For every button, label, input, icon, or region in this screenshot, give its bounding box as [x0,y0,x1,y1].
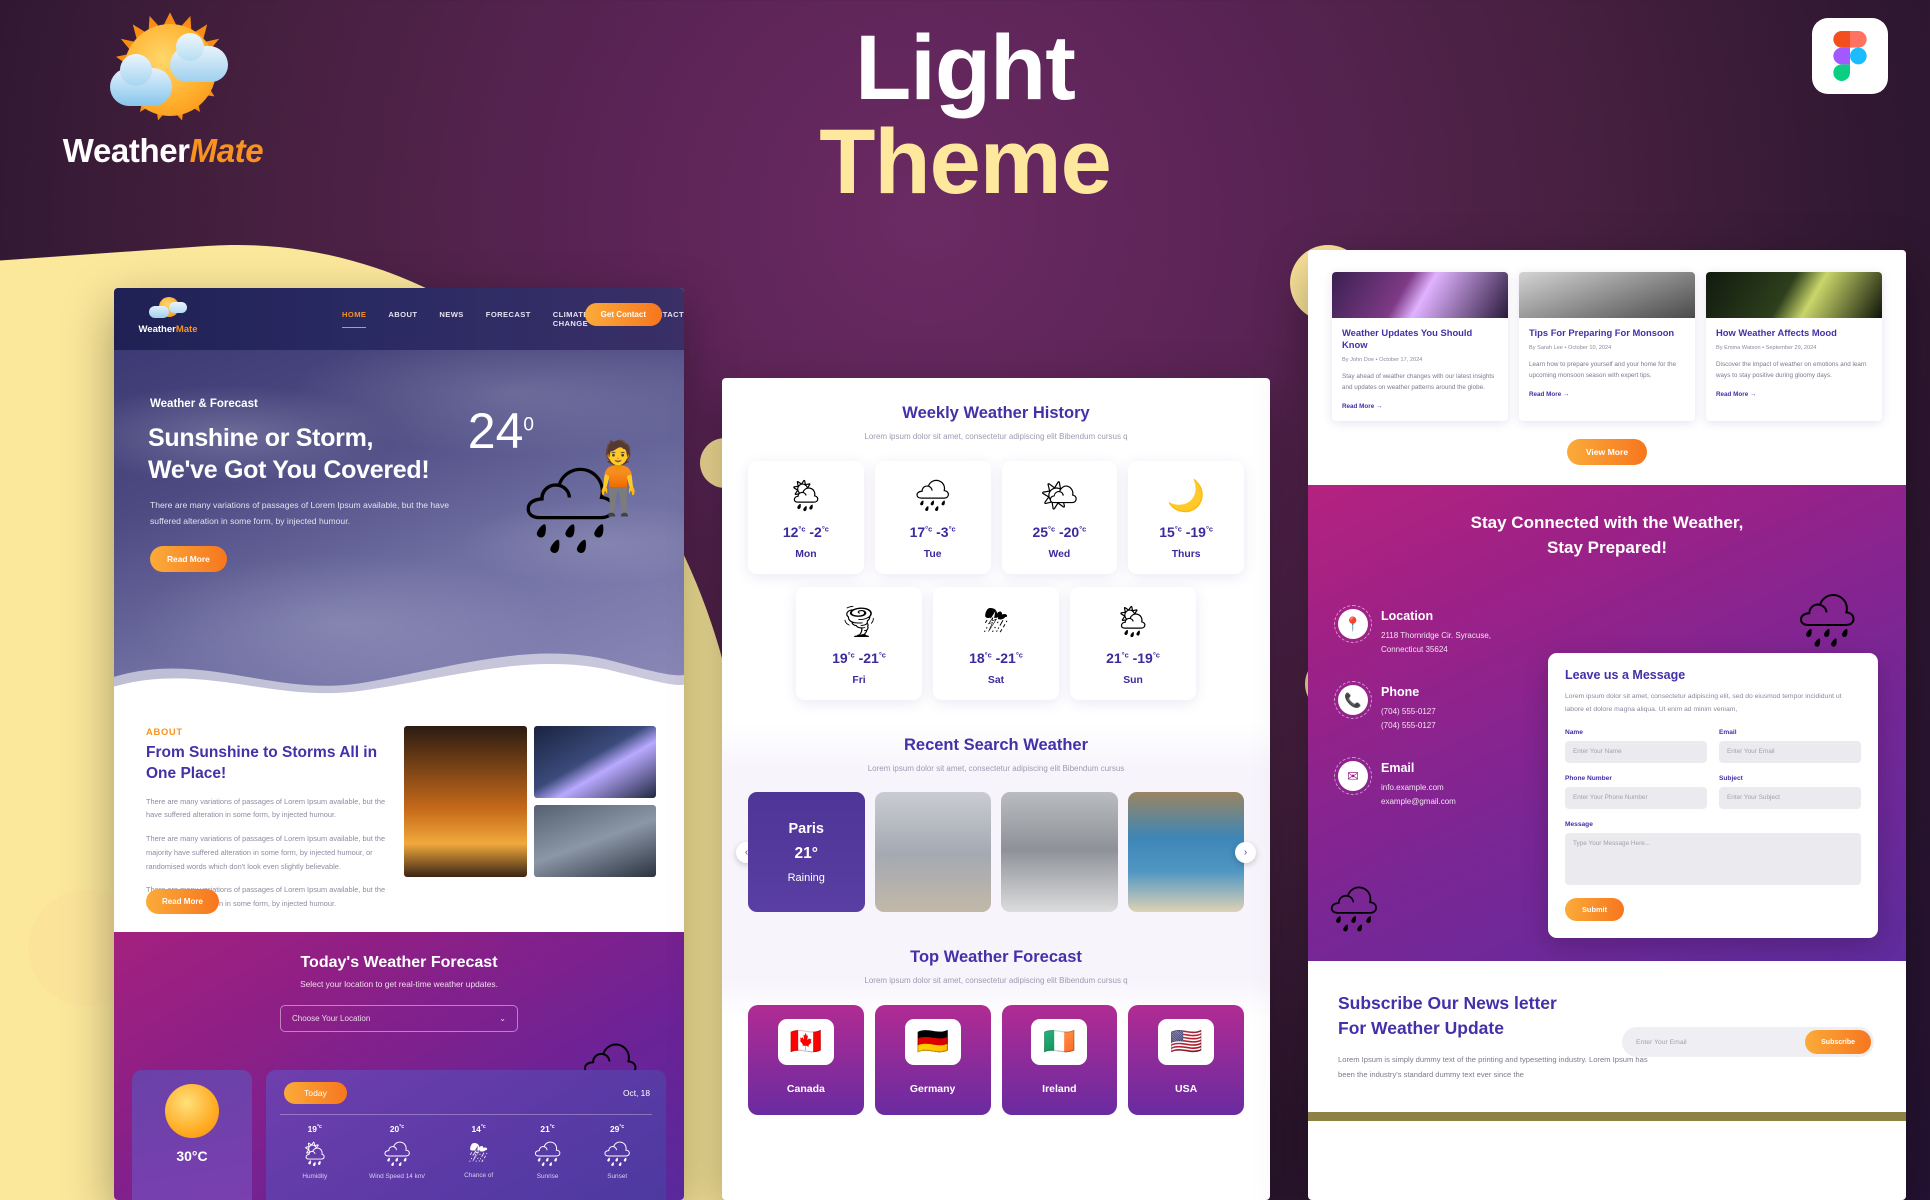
about-image-sunset [404,726,527,877]
about-read-more-button[interactable]: Read More [146,889,219,914]
hero-body: There are many variations of passages of… [150,498,450,530]
forecast-detail-panel: Today Oct, 18 19°c 🌦 Humidity 20°c 🌧 Win… [266,1070,666,1200]
news-thumbnail [1706,272,1882,318]
recent-card-featured[interactable]: Paris 21° Raining [748,792,865,912]
logo-text: WeatherMate [38,132,288,170]
subscribe-body: Lorem Ipsum is simply dummy text of the … [1338,1053,1658,1082]
contact-form-card: Leave us a Message Lorem ipsum dolor sit… [1548,653,1878,937]
tornado-icon: 🌪 [800,603,918,640]
flag-germany-icon: 🇩🇪 [905,1019,961,1065]
email-input[interactable]: Enter Your Email [1719,741,1861,763]
contact-info-location: 📍 Location 2118 Thornridge Cir. Syracuse… [1338,609,1518,657]
hero-wave-divider [114,644,684,700]
forecast-date: Oct, 18 [623,1088,650,1098]
carousel-next-button[interactable]: › [1235,842,1256,863]
subject-label: Subject [1719,775,1861,782]
contact-info-list: 📍 Location 2118 Thornridge Cir. Syracuse… [1338,609,1518,837]
weekly-heading: Weekly Weather History [722,404,1270,423]
weekly-day-card[interactable]: 🌤 25°c -20°c Wed [1002,461,1118,574]
contact-heading: Stay Connected with the Weather, Stay Pr… [1308,485,1906,560]
right-mockup: Weather Updates You Should Know By John … [1308,250,1906,1200]
subject-input[interactable]: Enter Your Subject [1719,787,1861,809]
get-contact-button[interactable]: Get Contact [585,303,662,326]
recent-card-palace[interactable] [1001,792,1118,912]
nav-item-about[interactable]: ABOUT [388,310,417,328]
field-subject: Subject Enter Your Subject [1719,775,1861,809]
nav-item-home[interactable]: HOME [342,310,366,328]
subscribe-email-input[interactable]: Enter Your Email [1636,1039,1687,1046]
field-email: Email Enter Your Email [1719,729,1861,763]
about-paragraph-1: There are many variations of passages of… [146,795,401,822]
forecast-detail-item: 19°c 🌦 Humidity [300,1124,330,1180]
news-meta: By Sarah Lee • October 10, 2024 [1529,345,1685,351]
forecast-detail-item: 21°c 🌧 Sunrise [532,1124,562,1180]
contact-rain-cloud-icon-2: 🌧 [1326,883,1382,935]
subscribe-button[interactable]: Subscribe [1805,1030,1871,1054]
news-meta: By John Doe • October 17, 2024 [1342,357,1498,363]
rain-cloud-icon: 🌧 [602,1140,632,1169]
current-weather-panel: 30°C [132,1070,252,1200]
news-cards: Weather Updates You Should Know By John … [1308,250,1906,439]
today-heading: Today's Weather Forecast [114,932,684,972]
subscribe-bar: Enter Your Email Subscribe [1622,1027,1874,1057]
phone-icon: 📞 [1338,685,1368,715]
recent-card-beach[interactable] [1128,792,1245,912]
weekly-day-card[interactable]: 🌦 21°c -19°c Sun [1070,587,1196,700]
today-tab[interactable]: Today [284,1082,347,1104]
recent-subtitle: Lorem ipsum dolor sit amet, consectetur … [722,762,1270,775]
flag-usa-icon: 🇺🇸 [1158,1019,1214,1065]
contact-info-phone: 📞 Phone (704) 555-0127(704) 555-0127 [1338,685,1518,733]
news-title: Weather Updates You Should Know [1342,327,1498,351]
recent-heading: Recent Search Weather [722,736,1270,755]
hero-person-illustration: 🧍 [575,438,662,520]
sun-rain-icon: 🌦 [1074,603,1192,640]
recent-search-section: Recent Search Weather Lorem ipsum dolor … [722,700,1270,912]
news-card[interactable]: Tips For Preparing For Monsoon By Sarah … [1519,272,1695,421]
center-mockup: Weekly Weather History Lorem ipsum dolor… [722,378,1270,1200]
form-heading: Leave us a Message [1565,668,1861,682]
today-forecast-section: Today's Weather Forecast Select your loc… [114,932,684,1200]
app-logo: WeatherMate [38,18,288,170]
country-card-canada[interactable]: 🇨🇦 Canada [748,1005,864,1115]
weekly-cards-row-2: 🌪 19°c -21°c Fri ⛈ 18°c -21°c Sat 🌦 21°c… [796,587,1196,700]
name-label: Name [1565,729,1707,736]
message-textarea[interactable]: Type Your Message Here... [1565,833,1861,885]
about-image-storm [534,805,657,877]
page-title: Light Theme [0,22,1930,210]
news-excerpt: Stay ahead of weather changes with our l… [1342,371,1498,393]
contact-rain-cloud-icon: 🌧 [1794,590,1860,651]
news-thumbnail [1332,272,1508,318]
sun-cloud-icon [94,18,232,126]
sun-icon [165,1084,219,1138]
hero-eyebrow: Weather & Forecast [150,398,258,410]
weekly-day-card[interactable]: 🌪 19°c -21°c Fri [796,587,922,700]
news-read-more-link[interactable]: Read More → [1716,391,1872,398]
phone-label: Phone Number [1565,775,1707,782]
view-more-wrap: View More [1308,439,1906,485]
top-forecast-section: Top Weather Forecast Lorem ipsum dolor s… [722,912,1270,1114]
about-paragraph-2: There are many variations of passages of… [146,832,401,873]
rain-cloud-icon: 🌧 [532,1140,562,1169]
envelope-icon: ✉ [1338,761,1368,791]
forecast-detail-item: 29°c 🌧 Sunset [602,1124,632,1180]
recent-carousel: ‹ Paris 21° Raining › [722,792,1270,912]
top-forecast-heading: Top Weather Forecast [722,948,1270,967]
hero-heading: Sunshine or Storm, We've Got You Covered… [148,422,429,486]
top-forecast-subtitle: Lorem ipsum dolor sit amet, consectetur … [722,974,1270,987]
recent-card-bridge[interactable] [875,792,992,912]
hero-read-more-button[interactable]: Read More [150,546,227,572]
news-card[interactable]: Weather Updates You Should Know By John … [1332,272,1508,421]
name-input[interactable]: Enter Your Name [1565,741,1707,763]
location-pin-icon: 📍 [1338,609,1368,639]
weekly-cards-row-1: 🌦 12°c -2°c Mon 🌧 17°c -3°c Tue 🌤 25°c -… [722,461,1270,574]
weekly-day-card[interactable]: ⛈ 18°c -21°c Sat [933,587,1059,700]
flag-ireland-icon: 🇮🇪 [1031,1019,1087,1065]
contact-info-email: ✉ Email info.example.comexample@gmail.co… [1338,761,1518,809]
weekly-day-card[interactable]: 🌧 17°c -3°c Tue [875,461,991,574]
about-heading: From Sunshine to Storms All in One Place… [146,742,386,785]
submit-button[interactable]: Submit [1565,898,1624,921]
left-mockup: WeatherMate HOME ABOUT NEWS FORECAST CLI… [114,288,684,1200]
sun-rain-icon: 🌦 [752,477,860,514]
contact-section: Stay Connected with the Weather, Stay Pr… [1308,485,1906,961]
location-select-value: Choose Your Location [292,1014,370,1023]
nav-item-news[interactable]: NEWS [439,310,463,328]
news-thumbnail [1519,272,1695,318]
thunder-icon: ⛈ [464,1140,493,1168]
hero-temperature: 240 [468,402,534,460]
forecast-detail-item: 20°c 🌧 Wind Speed 14 km/ [369,1124,425,1180]
field-message: Message Type Your Message Here... [1565,821,1861,885]
weekly-subtitle: Lorem ipsum dolor sit amet, consectetur … [722,430,1270,443]
sun-rain-icon: 🌦 [300,1140,330,1169]
title-line-2: Theme [0,116,1930,210]
forecast-detail-row: 19°c 🌦 Humidity 20°c 🌧 Wind Speed 14 km/… [280,1124,652,1180]
moon-stars-icon: 🌙 [1132,477,1240,514]
location-select[interactable]: Choose Your Location ⌄ [280,1005,518,1032]
news-excerpt: Discover the impact of weather on emotio… [1716,359,1872,381]
news-title: How Weather Affects Mood [1716,327,1872,339]
title-line-1: Light [0,22,1930,116]
current-temperature: 30°C [132,1146,252,1180]
navbar-logo[interactable]: WeatherMate [134,295,202,335]
rain-cloud-icon: 🌧 [369,1140,425,1169]
about-image-lightning [534,726,657,798]
country-card-germany[interactable]: 🇩🇪 Germany [875,1005,991,1115]
thunder-rain-icon: ⛈ [937,603,1055,640]
weekly-day-card[interactable]: 🌙 15°c -19°c Thurs [1128,461,1244,574]
news-card[interactable]: How Weather Affects Mood By Emma Watson … [1706,272,1882,421]
forecast-detail-item: 14°c ⛈ Chance of [464,1124,493,1180]
chevron-down-icon: ⌄ [499,1014,506,1023]
field-name: Name Enter Your Name [1565,729,1707,763]
flag-canada-icon: 🇨🇦 [778,1019,834,1065]
news-read-more-link[interactable]: Read More → [1529,391,1685,398]
view-more-button[interactable]: View More [1567,439,1647,465]
site-navbar: WeatherMate HOME ABOUT NEWS FORECAST CLI… [114,288,684,350]
phone-input[interactable]: Enter Your Phone Number [1565,787,1707,809]
country-cards: 🇨🇦 Canada 🇩🇪 Germany 🇮🇪 Ireland 🇺🇸 USA [722,1005,1270,1115]
news-title: Tips For Preparing For Monsoon [1529,327,1685,339]
figma-icon[interactable] [1812,18,1888,94]
news-excerpt: Learn how to prepare yourself and your h… [1529,359,1685,381]
country-card-ireland[interactable]: 🇮🇪 Ireland [1002,1005,1118,1115]
today-subtitle: Select your location to get real-time we… [114,979,684,989]
sun-wind-icon: 🌤 [1006,477,1114,514]
field-phone: Phone Number Enter Your Phone Number [1565,775,1707,809]
weekly-history-section: Weekly Weather History Lorem ipsum dolor… [722,378,1270,700]
moon-rain-icon: 🌧 [879,477,987,514]
nav-item-forecast[interactable]: FORECAST [486,310,531,328]
weekly-day-card[interactable]: 🌦 12°c -2°c Mon [748,461,864,574]
subscribe-section: Subscribe Our News letter For Weather Up… [1308,961,1906,1121]
about-image-grid [404,726,656,877]
country-card-usa[interactable]: 🇺🇸 USA [1128,1005,1244,1115]
footer-gold-bar [1308,1112,1906,1121]
hero-section: Weather & Forecast Sunshine or Storm, We… [114,350,684,700]
news-meta: By Emma Watson • September 29, 2024 [1716,345,1872,351]
divider [280,1114,652,1115]
message-label: Message [1565,821,1861,828]
about-section: ABOUT From Sunshine to Storms All in One… [114,700,684,932]
news-read-more-link[interactable]: Read More → [1342,403,1498,410]
email-label: Email [1719,729,1861,736]
form-description: Lorem ipsum dolor sit amet, consectetur … [1565,691,1861,716]
